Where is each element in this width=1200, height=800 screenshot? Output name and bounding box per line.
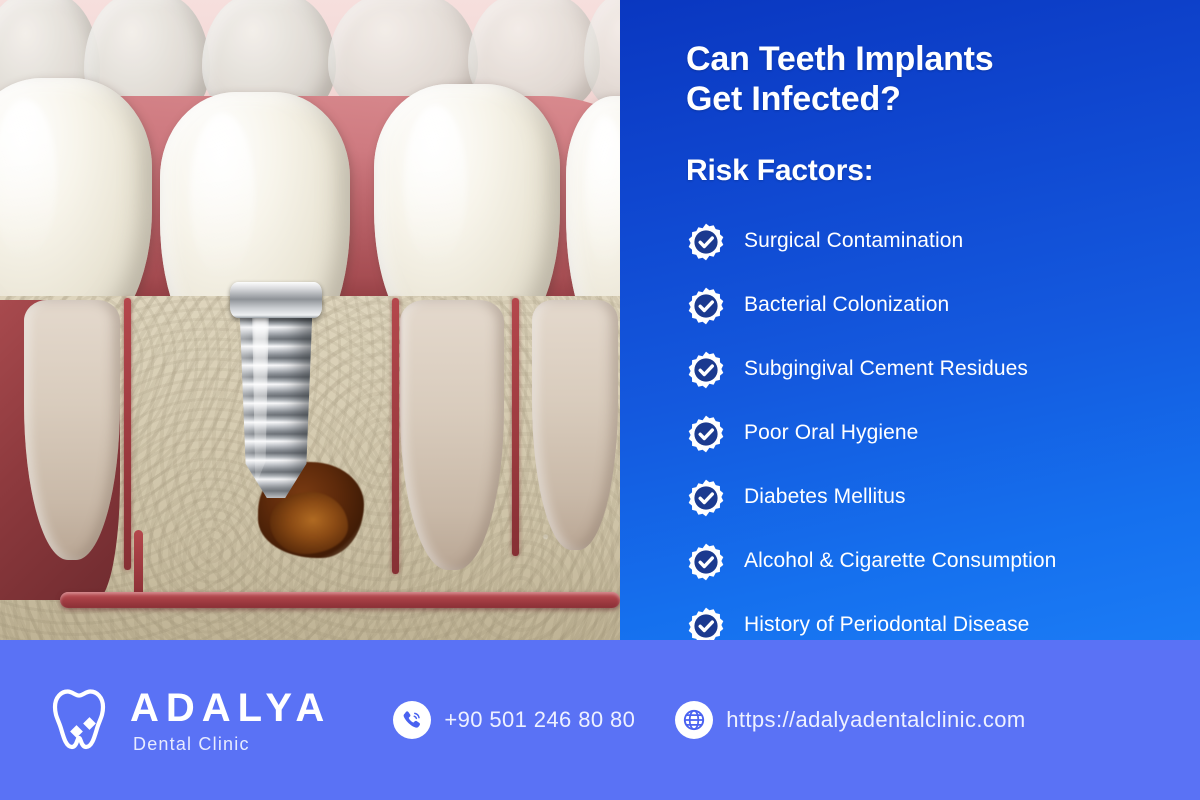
globe-icon <box>675 701 713 739</box>
risk-factor-label: Alcohol & Cigarette Consumption <box>744 548 1056 575</box>
risk-factor-label: Diabetes Mellitus <box>744 484 906 511</box>
nerve-canal <box>60 592 620 608</box>
brand-text: ADALYA Dental Clinic <box>130 688 331 753</box>
brand-name: ADALYA <box>130 688 331 728</box>
list-item: Diabetes Mellitus <box>686 470 1176 526</box>
nerve-branch <box>134 530 143 600</box>
check-badge-icon <box>686 414 726 454</box>
periodontal-ligament-line <box>124 298 131 570</box>
brand-logo: ADALYA Dental Clinic <box>42 683 331 757</box>
website-contact[interactable]: https://adalyadentalclinic.com <box>675 701 1025 739</box>
page-title: Can Teeth Implants Get Infected? <box>686 40 1176 120</box>
phone-contact[interactable]: +90 501 246 80 80 <box>393 701 635 739</box>
check-badge-icon <box>686 286 726 326</box>
phone-number: +90 501 246 80 80 <box>444 707 635 733</box>
check-badge-icon <box>686 542 726 582</box>
list-item: Bacterial Colonization <box>686 278 1176 334</box>
check-badge-icon <box>686 222 726 262</box>
list-item: Alcohol & Cigarette Consumption <box>686 534 1176 590</box>
footer-contact-bar: ADALYA Dental Clinic +90 501 246 80 80 <box>0 640 1200 800</box>
risk-factor-label: Bacterial Colonization <box>744 292 949 319</box>
website-url: https://adalyadentalclinic.com <box>726 707 1025 733</box>
periodontal-ligament-line <box>512 298 519 556</box>
dental-implant-illustration <box>0 0 620 640</box>
risk-factors-panel: Can Teeth Implants Get Infected? Risk Fa… <box>620 0 1200 640</box>
risk-factor-label: History of Periodontal Disease <box>744 612 1029 639</box>
risk-factor-label: Subgingival Cement Residues <box>744 356 1028 383</box>
list-item: Surgical Contamination <box>686 214 1176 270</box>
risk-factors-list: Surgical Contamination Bacterial Coloniz… <box>686 214 1176 654</box>
headline-line-2: Get Infected? <box>686 80 1176 120</box>
infection-lesion-core <box>270 492 348 554</box>
check-badge-icon <box>686 350 726 390</box>
brand-tagline: Dental Clinic <box>133 735 331 753</box>
headline-line-1: Can Teeth Implants <box>686 40 1176 80</box>
phone-icon <box>393 701 431 739</box>
infographic-poster: Can Teeth Implants Get Infected? Risk Fa… <box>0 0 1200 800</box>
implant-abutment-collar <box>230 282 322 318</box>
periodontal-ligament-line <box>392 298 399 574</box>
implant-screw-thread <box>238 308 314 498</box>
risk-factor-label: Poor Oral Hygiene <box>744 420 918 447</box>
list-item: Subgingival Cement Residues <box>686 342 1176 398</box>
tooth-logo-icon <box>42 683 116 757</box>
risk-factor-label: Surgical Contamination <box>744 228 963 255</box>
list-item: Poor Oral Hygiene <box>686 406 1176 462</box>
section-subtitle: Risk Factors: <box>686 154 1176 188</box>
check-badge-icon <box>686 478 726 518</box>
